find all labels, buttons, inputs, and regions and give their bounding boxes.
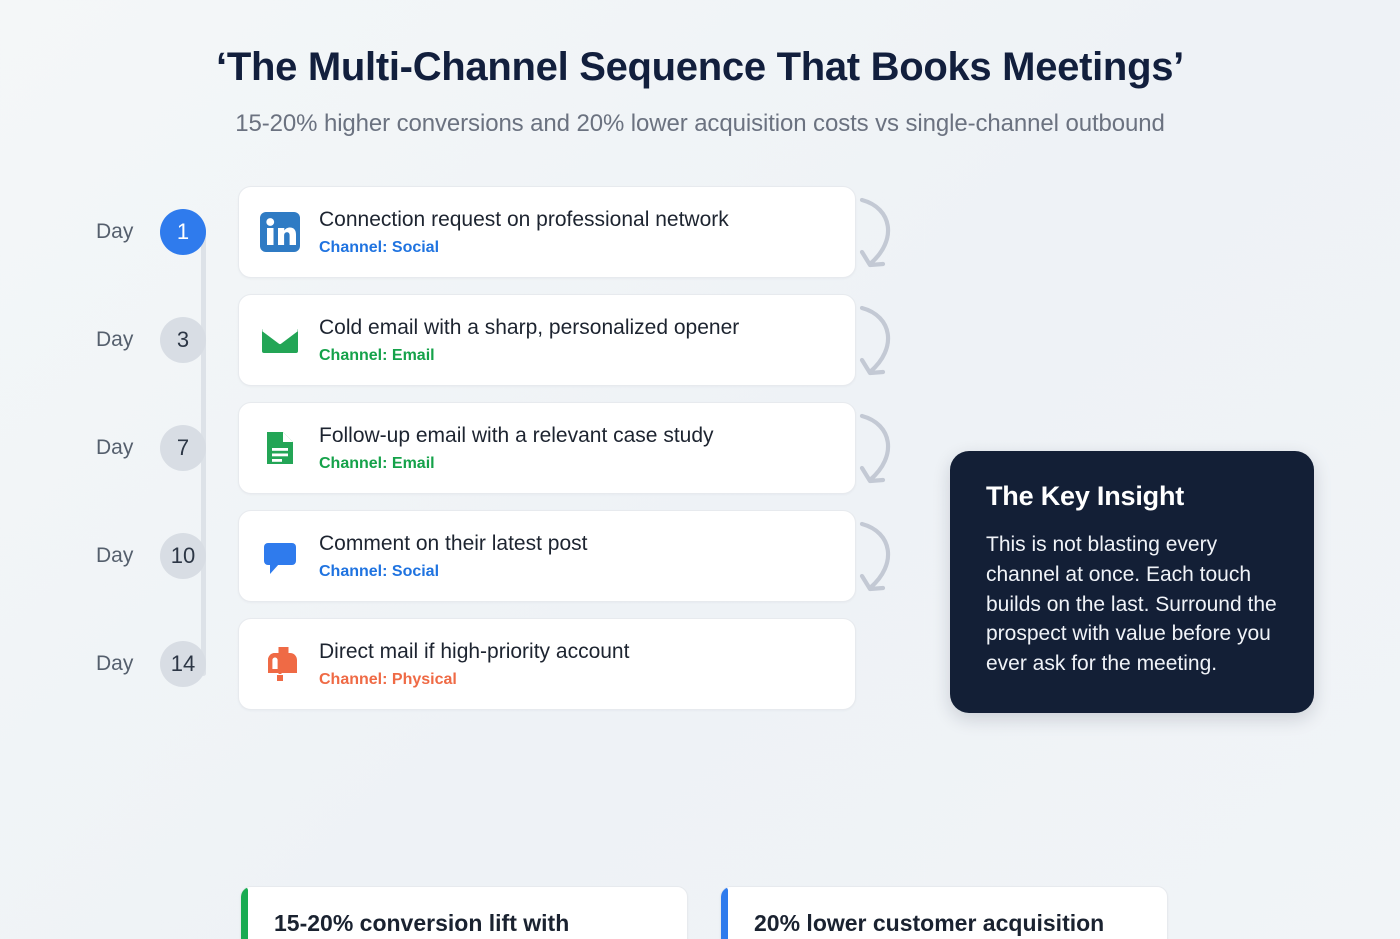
linkedin-icon <box>257 209 303 255</box>
touchpoint-card[interactable]: Direct mail if high-priority account Cha… <box>238 618 856 710</box>
day-marker[interactable]: 10 <box>160 533 206 579</box>
timeline-step[interactable]: Day 7 Follow-up email with a relevant ca… <box>96 394 856 502</box>
curved-down-arrow-icon <box>862 200 888 265</box>
touchpoint-card[interactable]: Comment on their latest post Channel: So… <box>238 510 856 602</box>
day-marker[interactable]: 7 <box>160 425 206 471</box>
touchpoint-title: Cold email with a sharp, personalized op… <box>319 315 739 340</box>
sequence-timeline: Day 1 Connection request on professional… <box>96 178 856 718</box>
stat-card-conversion-lift: 15-20% conversion lift with coordinated … <box>240 886 688 939</box>
stat-card-text: 20% lower customer acquisition costs <box>728 908 1167 939</box>
touchpoint-title: Comment on their latest post <box>319 531 587 556</box>
timeline-step[interactable]: Day 3 Cold email with a sharp, personali… <box>96 286 856 394</box>
key-insight-card: The Key Insight This is not blasting eve… <box>950 451 1314 713</box>
timeline-step[interactable]: Day 10 Comment on their latest post Chan… <box>96 502 856 610</box>
touchpoint-title: Direct mail if high-priority account <box>319 639 629 664</box>
touchpoint-card[interactable]: Cold email with a sharp, personalized op… <box>238 294 856 386</box>
day-marker[interactable]: 14 <box>160 641 206 687</box>
touchpoint-text: Direct mail if high-priority account Cha… <box>319 639 629 688</box>
touchpoint-title: Follow-up email with a relevant case stu… <box>319 423 714 448</box>
stat-cards: 15-20% conversion lift with coordinated … <box>240 886 1168 939</box>
stat-accent-bar <box>241 887 248 939</box>
diagram-stage: Day 1 Connection request on professional… <box>0 138 1400 898</box>
page-subtitle: 15-20% higher conversions and 20% lower … <box>0 110 1400 138</box>
touchpoint-text: Connection request on professional netwo… <box>319 207 729 256</box>
touchpoint-text: Follow-up email with a relevant case stu… <box>319 423 714 472</box>
page-title: ‘The Multi-Channel Sequence That Books M… <box>0 44 1400 90</box>
day-marker[interactable]: 3 <box>160 317 206 363</box>
touchpoint-card[interactable]: Follow-up email with a relevant case stu… <box>238 402 856 494</box>
day-label: Day <box>96 544 152 568</box>
touchpoint-channel: Channel: Physical <box>319 671 629 689</box>
stat-card-text: 15-20% conversion lift with coordinated … <box>248 908 687 939</box>
connector-arrows-group <box>856 178 926 698</box>
key-insight-body: This is not blasting every channel at on… <box>986 530 1282 679</box>
touchpoint-title: Connection request on professional netwo… <box>319 207 729 232</box>
day-label: Day <box>96 328 152 352</box>
day-label: Day <box>96 436 152 460</box>
touchpoint-card[interactable]: Connection request on professional netwo… <box>238 186 856 278</box>
curved-down-arrow-icon <box>862 308 888 373</box>
mailbox-icon <box>257 641 303 687</box>
day-label: Day <box>96 220 152 244</box>
page-header: ‘The Multi-Channel Sequence That Books M… <box>0 0 1400 138</box>
envelope-icon <box>257 317 303 363</box>
stat-accent-bar <box>721 887 728 939</box>
timeline-step[interactable]: Day 1 Connection request on professional… <box>96 178 856 286</box>
speech-bubble-icon <box>257 533 303 579</box>
curved-down-arrow-icon <box>862 416 888 481</box>
day-marker[interactable]: 1 <box>160 209 206 255</box>
touchpoint-channel: Channel: Social <box>319 563 587 581</box>
touchpoint-text: Cold email with a sharp, personalized op… <box>319 315 739 364</box>
touchpoint-channel: Channel: Social <box>319 239 729 257</box>
curved-down-arrow-icon <box>862 524 888 589</box>
day-label: Day <box>96 652 152 676</box>
key-insight-title: The Key Insight <box>986 481 1282 512</box>
touchpoint-channel: Channel: Email <box>319 347 739 365</box>
document-icon <box>257 425 303 471</box>
touchpoint-text: Comment on their latest post Channel: So… <box>319 531 587 580</box>
stat-card-acquisition-cost: 20% lower customer acquisition costs <box>720 886 1168 939</box>
timeline-step[interactable]: Day 14 Direct mail if high-priority acco… <box>96 610 856 718</box>
touchpoint-channel: Channel: Email <box>319 455 714 473</box>
